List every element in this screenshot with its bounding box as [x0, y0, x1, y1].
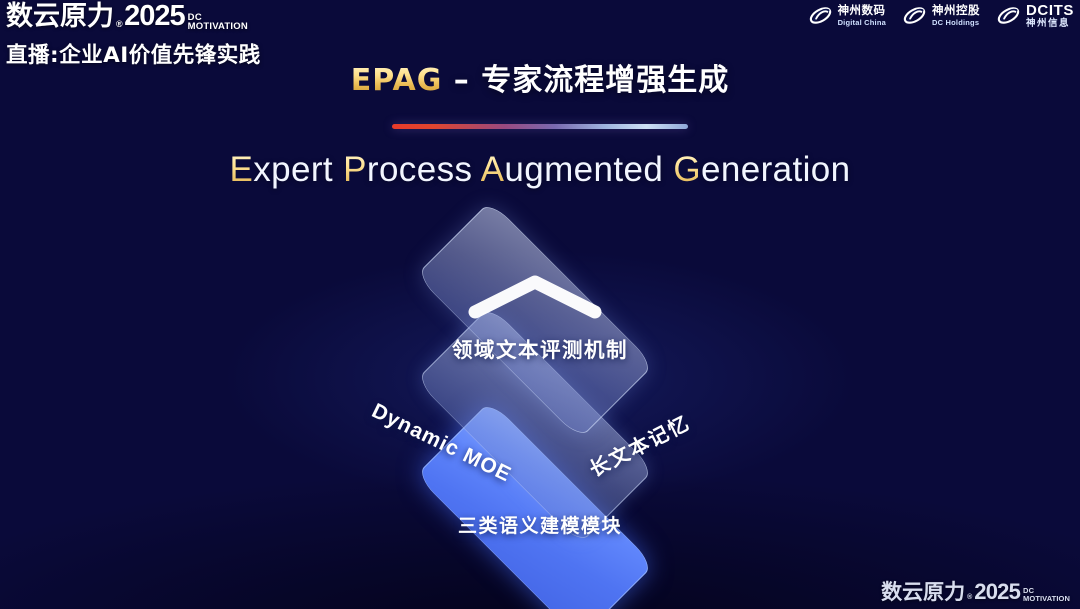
partner-name-cn: 神州数码 — [838, 5, 886, 17]
partner-name-en: DC Holdings — [932, 19, 980, 27]
headline-initial-e: E — [229, 150, 253, 189]
watermark-year: 2025 — [974, 581, 1020, 603]
headline-initial-p: P — [343, 150, 367, 189]
headline-space-1 — [333, 150, 343, 189]
watermark-registered-mark: ® — [967, 592, 972, 603]
brand-logo: 数云原力 ® 2025 DC MOTIVATION — [6, 2, 306, 31]
headline-word-augmented: ugmented — [504, 150, 663, 189]
livestream-subtitle: 直播:企业AI价值先锋实践 — [6, 38, 306, 69]
stack-label-top: 领域文本评测机制 — [0, 333, 1080, 363]
partner-name-en: Digital China — [838, 19, 886, 27]
partner-logo-digital-china: 神州数码 Digital China — [808, 3, 886, 28]
headline-initial-g: G — [673, 150, 701, 189]
swoosh-icon — [996, 3, 1021, 28]
partner-text: DCITS 神州信息 — [1026, 3, 1074, 29]
watermark-name-cn: 数云原力 — [881, 581, 965, 603]
headline-word-process: rocess — [367, 150, 473, 189]
headline-space-2 — [472, 150, 480, 189]
brand-year: 2025 — [124, 2, 185, 31]
partner-name-en: DCITS — [1026, 3, 1074, 18]
partner-text: 神州数码 Digital China — [838, 5, 886, 26]
partner-text: 神州控股 DC Holdings — [932, 5, 980, 26]
headline-initial-a: A — [481, 150, 505, 189]
top-bar: 数云原力 ® 2025 DC MOTIVATION 直播:企业AI价值先锋实践 … — [0, 0, 1080, 96]
swoosh-icon — [902, 3, 927, 28]
swoosh-icon — [808, 3, 833, 28]
brand-block: 数云原力 ® 2025 DC MOTIVATION 直播:企业AI价值先锋实践 — [6, 2, 306, 69]
chevron-up-icon — [467, 272, 603, 320]
brand-name-cn: 数云原力 — [6, 3, 114, 31]
partner-name-cn: 神州控股 — [932, 5, 980, 17]
gradient-divider — [392, 124, 688, 129]
stack-label-bottom: 三类语义建模模块 — [0, 511, 1080, 538]
partner-logo-dc-holdings: 神州控股 DC Holdings — [902, 3, 980, 28]
headline-word-generation: eneration — [701, 150, 851, 189]
partner-logos: 神州数码 Digital China 神州控股 DC Holdings — [808, 3, 1074, 29]
partner-name-cn: 神州信息 — [1026, 19, 1074, 29]
headline-space-3 — [663, 150, 673, 189]
watermark-motivation: MOTIVATION — [1023, 595, 1070, 603]
watermark-dc-motivation: DC MOTIVATION — [1023, 587, 1070, 603]
corner-watermark: 数云原力 ® 2025 DC MOTIVATION — [881, 581, 1070, 603]
headline: Expert Process Augmented Generation — [0, 150, 1080, 190]
registered-mark: ® — [116, 17, 122, 31]
partner-logo-dcits: DCITS 神州信息 — [996, 3, 1074, 29]
brand-motivation: MOTIVATION — [188, 22, 248, 31]
slide-canvas: 数云原力 ® 2025 DC MOTIVATION 直播:企业AI价值先锋实践 … — [0, 0, 1080, 609]
brand-dc-motivation: DC MOTIVATION — [188, 13, 248, 31]
headline-word-expert: xpert — [253, 150, 333, 189]
